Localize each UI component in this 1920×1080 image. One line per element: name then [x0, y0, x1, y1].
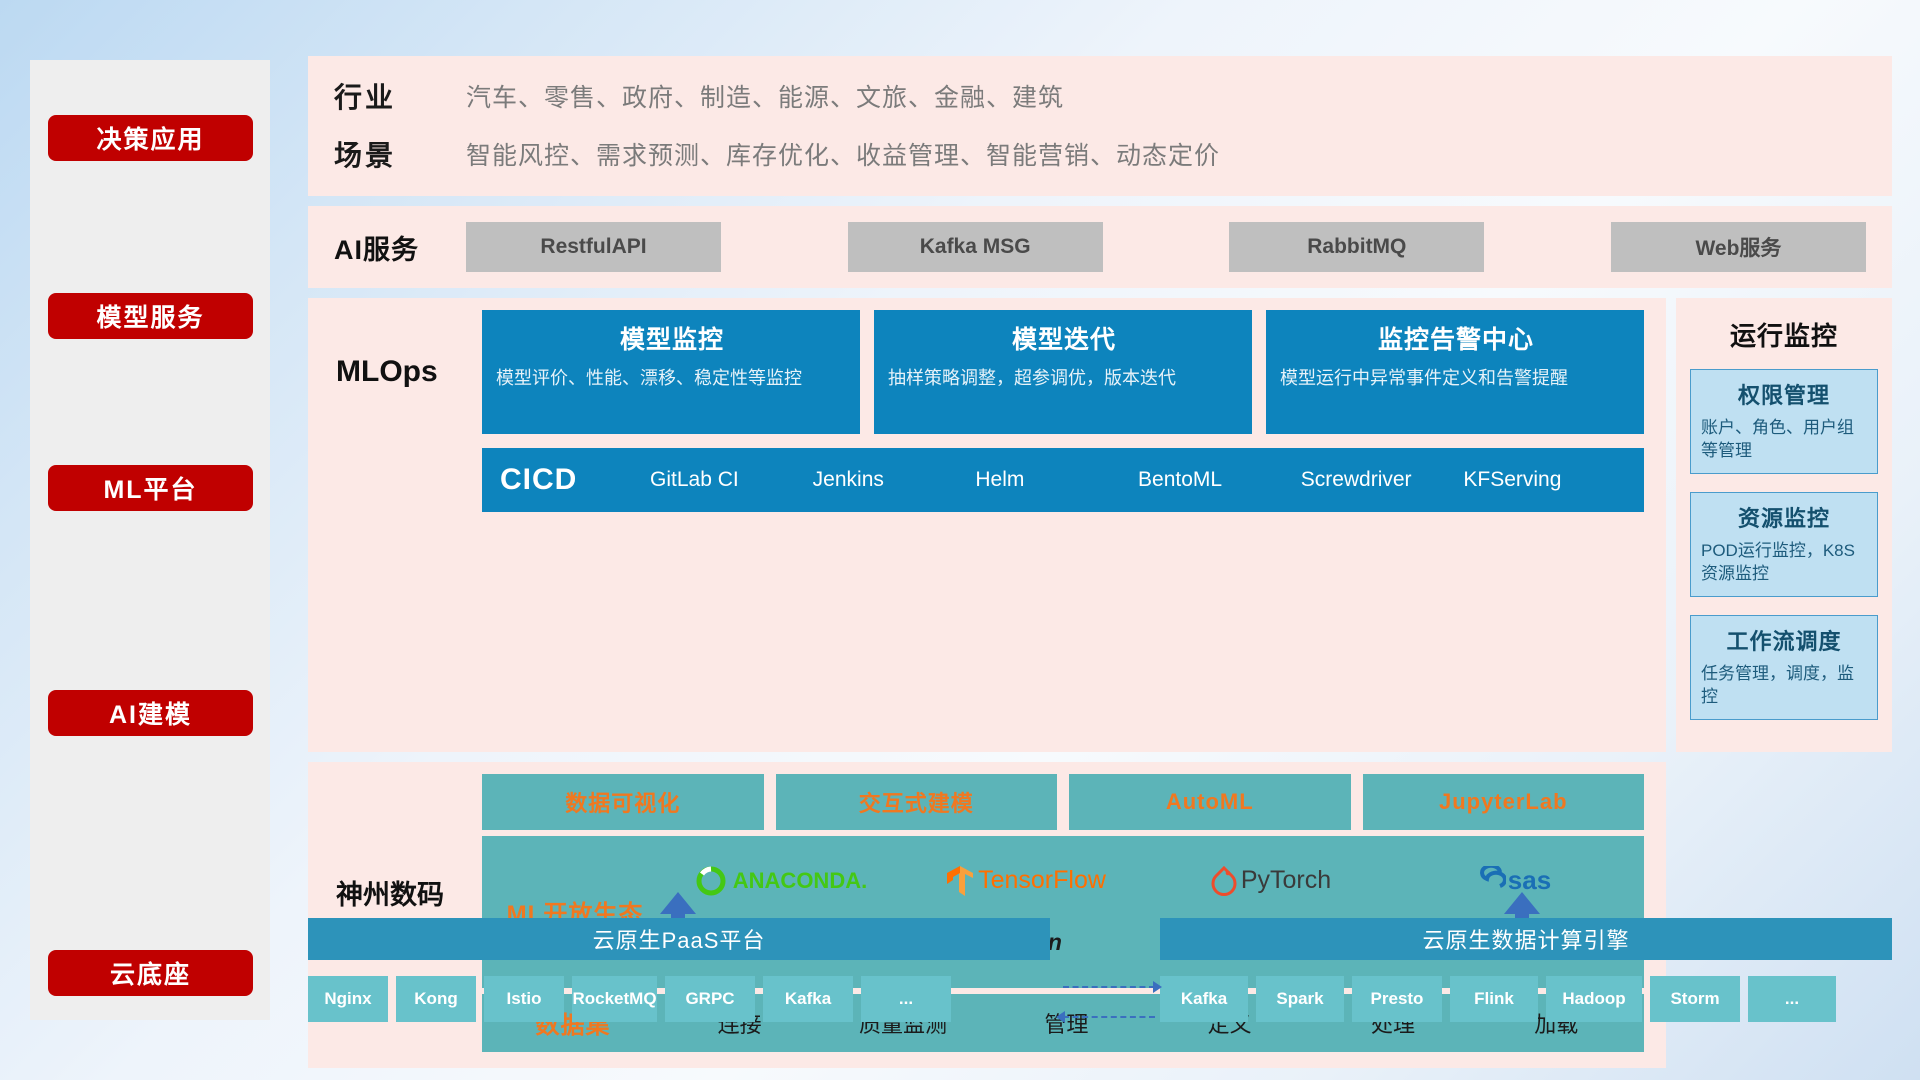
paas-tag-row: Nginx Kong Istio RocketMQ GRPC Kafka ... [308, 976, 951, 1022]
cicd-item-jenkins[interactable]: Jenkins [813, 467, 976, 493]
monitor-card-title: 工作流调度 [1701, 624, 1867, 656]
tag-presto[interactable]: Presto [1352, 976, 1442, 1022]
tag-more-right[interactable]: ... [1748, 976, 1836, 1022]
tag-nginx[interactable]: Nginx [308, 976, 388, 1022]
monitor-card-title: 资源监控 [1701, 501, 1867, 533]
tag-flink[interactable]: Flink [1450, 976, 1538, 1022]
cloud-data-engine-bar[interactable]: 云原生数据计算引擎 [1160, 918, 1892, 960]
cicd-item-helm[interactable]: Helm [975, 467, 1138, 493]
mlops-card-alert-center[interactable]: 监控告警中心 模型运行中异常事件定义和告警提醒 [1266, 310, 1644, 434]
cicd-bar: CICD GitLab CI Jenkins Helm BentoML Scre… [482, 448, 1644, 512]
mlops-card-title: 监控告警中心 [1280, 320, 1632, 356]
runtime-monitor-title: 运行监控 [1690, 316, 1878, 353]
monitor-card-desc: 任务管理，调度，监控 [1701, 662, 1867, 709]
data-engine-tag-row: Kafka Spark Presto Flink Hadoop Storm ..… [1160, 976, 1836, 1022]
tab-interactive-modeling[interactable]: 交互式建模 [776, 774, 1058, 830]
rail-chip-model-service[interactable]: 模型服务 [48, 293, 253, 339]
scenario-key: 场景 [334, 134, 466, 174]
cicd-item-bentoml[interactable]: BentoML [1138, 467, 1301, 493]
tab-jupyterlab[interactable]: JupyterLab [1363, 774, 1645, 830]
ml-lab-tabs: 数据可视化 交互式建模 AutoML JupyterLab [482, 774, 1644, 830]
tag-more-left[interactable]: ... [861, 976, 951, 1022]
mlops-card-desc: 抽样策略调整，超参调优，版本迭代 [888, 366, 1240, 392]
monitor-card-resource[interactable]: 资源监控 POD运行监控，K8S资源监控 [1690, 492, 1878, 597]
industry-key: 行业 [334, 76, 466, 116]
layer-rail: 决策应用 模型服务 ML平台 AI建模 云底座 [30, 60, 270, 1020]
tab-automl[interactable]: AutoML [1069, 774, 1351, 830]
cicd-item-kfserving[interactable]: KFServing [1463, 467, 1626, 493]
scenario-row: 场景 智能风控、需求预测、库存优化、收益管理、智能营销、动态定价 [334, 134, 1866, 174]
cicd-item-screwdriver[interactable]: Screwdriver [1301, 467, 1464, 493]
rail-chip-ml-platform[interactable]: ML平台 [48, 465, 253, 511]
tag-kafka-right[interactable]: Kafka [1160, 976, 1248, 1022]
industry-value: 汽车、零售、政府、制造、能源、文旅、金融、建筑 [466, 78, 1064, 114]
monitor-card-desc: 账户、角色、用户组等管理 [1701, 416, 1867, 463]
ai-service-band: AI服务 RestfulAPI Kafka MSG RabbitMQ Web服务 [308, 206, 1892, 288]
tag-storm[interactable]: Storm [1650, 976, 1740, 1022]
mlops-card-desc: 模型运行中异常事件定义和告警提醒 [1280, 366, 1632, 392]
tag-rocketmq[interactable]: RocketMQ [572, 976, 657, 1022]
architecture-diagram: 决策应用 模型服务 ML平台 AI建模 云底座 行业 汽车、零售、政府、制造、能… [0, 0, 1920, 1080]
dashed-arrow-right-icon [1153, 981, 1162, 993]
mlops-card-model-iteration[interactable]: 模型迭代 抽样策略调整，超参调优，版本迭代 [874, 310, 1252, 434]
mlops-card-desc: 模型评价、性能、漂移、稳定性等监控 [496, 366, 848, 392]
mlops-card-model-monitoring[interactable]: 模型监控 模型评价、性能、漂移、稳定性等监控 [482, 310, 860, 434]
industry-row: 行业 汽车、零售、政府、制造、能源、文旅、金融、建筑 [334, 76, 1866, 116]
rail-chip-cloud-base[interactable]: 云底座 [48, 950, 253, 996]
monitor-card-workflow[interactable]: 工作流调度 任务管理，调度，监控 [1690, 615, 1878, 720]
tag-kong[interactable]: Kong [396, 976, 476, 1022]
arrow-up-left-icon [660, 892, 696, 914]
tab-data-visualization[interactable]: 数据可视化 [482, 774, 764, 830]
mlops-label: MLOps [330, 310, 482, 434]
ai-service-button-rabbitmq[interactable]: RabbitMQ [1229, 222, 1484, 272]
dashed-connector-top [1063, 986, 1155, 988]
ai-service-button-web[interactable]: Web服务 [1611, 222, 1866, 272]
cloud-base-section: 云原生PaaS平台 云原生数据计算引擎 Nginx Kong Istio Roc… [308, 890, 1892, 1042]
tag-istio[interactable]: Istio [484, 976, 564, 1022]
mlops-and-monitor-band: MLOps 模型监控 模型评价、性能、漂移、稳定性等监控 模型迭代 抽样策略调整… [308, 298, 1892, 752]
runtime-monitor-panel: 运行监控 权限管理 账户、角色、用户组等管理 资源监控 POD运行监控，K8S资… [1676, 298, 1892, 752]
arrow-up-right-icon [1504, 892, 1540, 914]
ai-service-buttons: RestfulAPI Kafka MSG RabbitMQ Web服务 [466, 222, 1866, 272]
mlops-card-title: 模型迭代 [888, 320, 1240, 356]
cloud-paas-bar[interactable]: 云原生PaaS平台 [308, 918, 1050, 960]
monitor-card-permission[interactable]: 权限管理 账户、角色、用户组等管理 [1690, 369, 1878, 474]
industry-scenario-band: 行业 汽车、零售、政府、制造、能源、文旅、金融、建筑 场景 智能风控、需求预测、… [308, 56, 1892, 196]
ai-service-label: AI服务 [334, 228, 466, 267]
ai-service-button-restfulapi[interactable]: RestfulAPI [466, 222, 721, 272]
tag-hadoop[interactable]: Hadoop [1546, 976, 1642, 1022]
cicd-title: CICD [500, 463, 650, 497]
dashed-arrow-left-icon [1056, 1011, 1065, 1023]
ai-service-button-kafka-msg[interactable]: Kafka MSG [848, 222, 1103, 272]
dashed-connector-bottom [1063, 1016, 1155, 1018]
monitor-card-desc: POD运行监控，K8S资源监控 [1701, 539, 1867, 586]
cicd-item-gitlab-ci[interactable]: GitLab CI [650, 467, 813, 493]
rail-chip-ai-modeling[interactable]: AI建模 [48, 690, 253, 736]
mlops-section: MLOps 模型监控 模型评价、性能、漂移、稳定性等监控 模型迭代 抽样策略调整… [308, 298, 1666, 752]
tag-kafka[interactable]: Kafka [763, 976, 853, 1022]
tag-grpc[interactable]: GRPC [665, 976, 755, 1022]
scenario-value: 智能风控、需求预测、库存优化、收益管理、智能营销、动态定价 [466, 136, 1220, 172]
rail-chip-decision-app[interactable]: 决策应用 [48, 115, 253, 161]
monitor-card-title: 权限管理 [1701, 378, 1867, 410]
mlops-card-title: 模型监控 [496, 320, 848, 356]
mlops-card-row: 模型监控 模型评价、性能、漂移、稳定性等监控 模型迭代 抽样策略调整，超参调优，… [482, 310, 1644, 434]
tag-spark[interactable]: Spark [1256, 976, 1344, 1022]
